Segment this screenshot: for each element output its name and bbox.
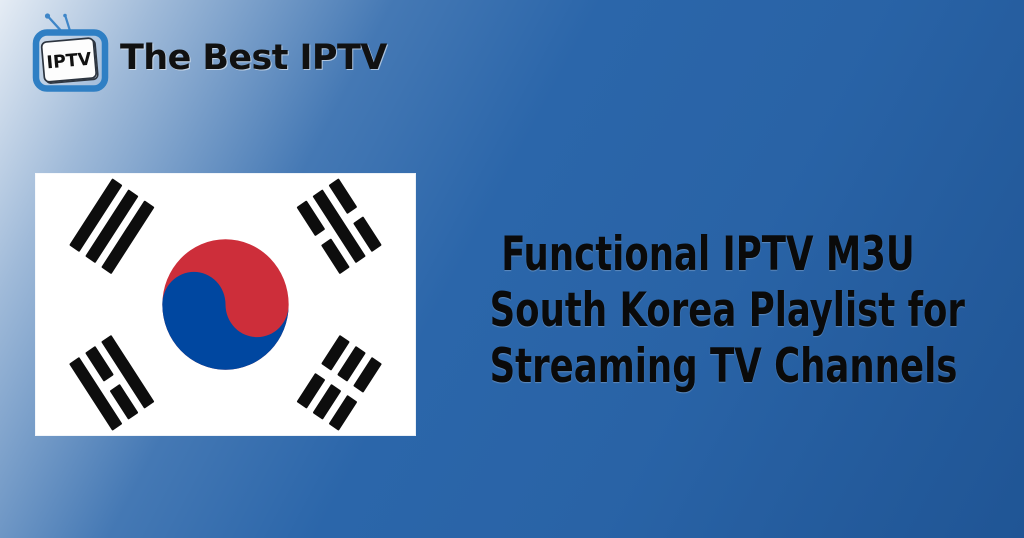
page-title: Functional IPTV M3U South Korea Playlist…: [490, 227, 927, 395]
site-logo[interactable]: IPTV The Best IPTV: [26, 8, 387, 100]
tv-icon: IPTV: [26, 10, 112, 98]
south-korea-flag: [36, 174, 415, 435]
logo-screen-text: IPTV: [46, 50, 93, 74]
page-title-line-2: South Korea Playlist for: [490, 283, 927, 339]
site-logo-text: The Best IPTV: [120, 41, 387, 76]
page-title-line-3: Streaming TV Channels: [490, 339, 927, 395]
banner: IPTV The Best IPTV: [0, 0, 1024, 538]
page-title-line-1: Functional IPTV M3U: [490, 227, 927, 283]
